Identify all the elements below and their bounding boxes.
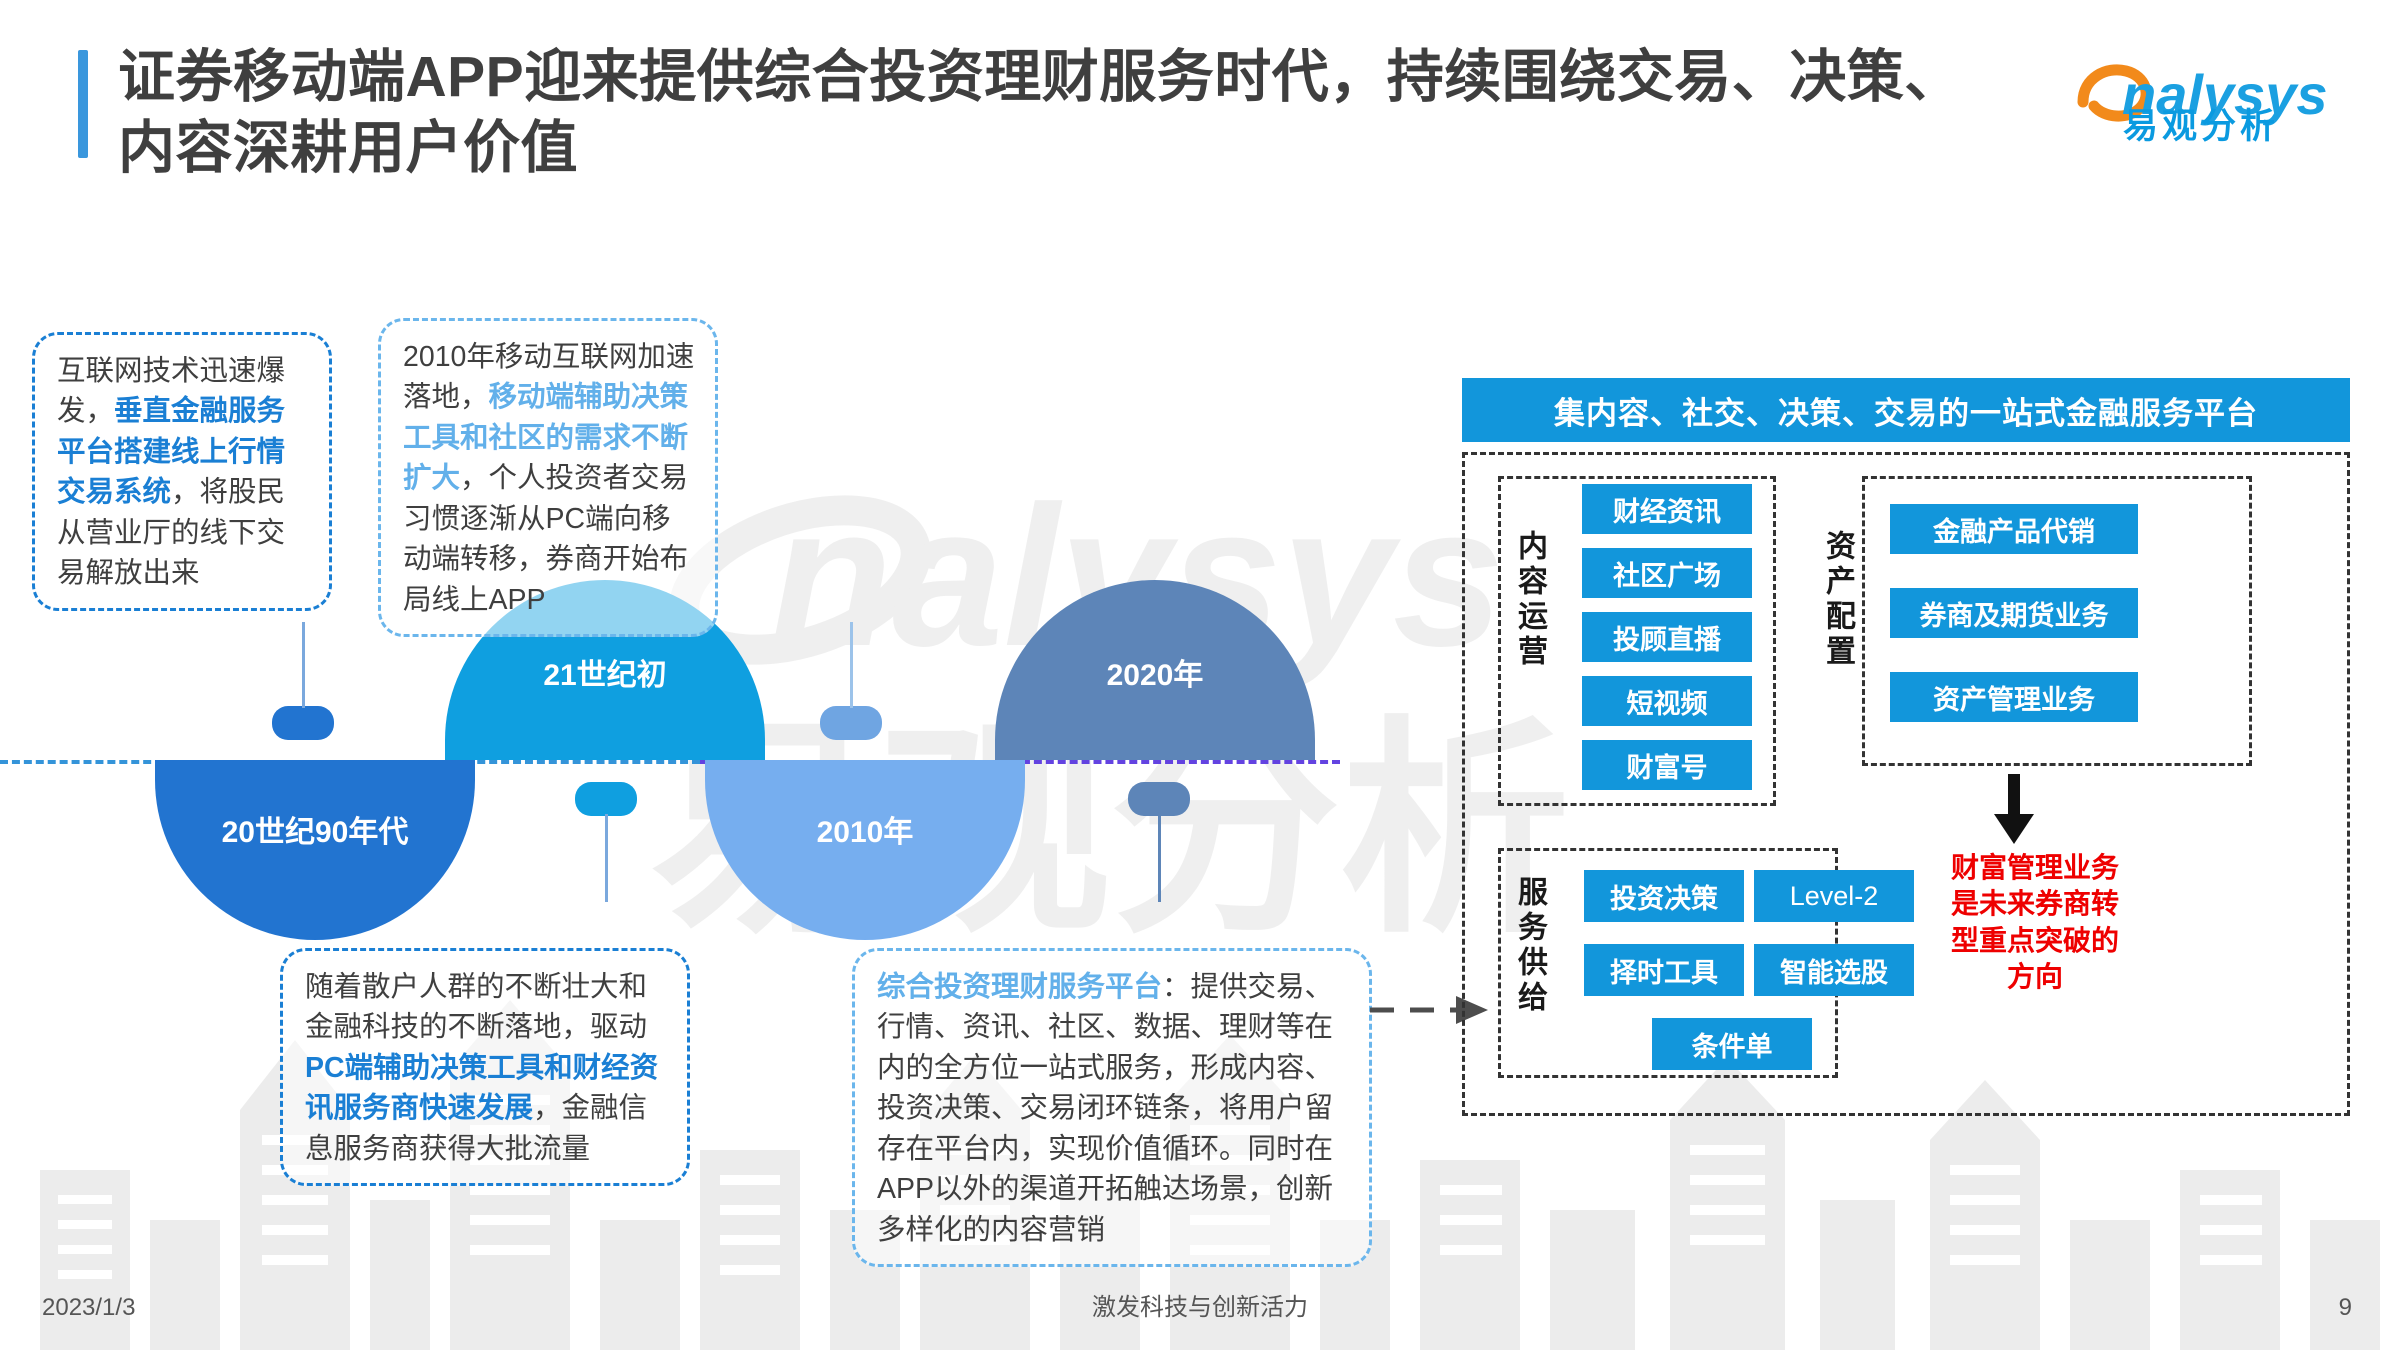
tag-content-4[interactable]: 财富号 [1582, 740, 1752, 790]
tag-content-1[interactable]: 社区广场 [1582, 548, 1752, 598]
tag-asset-1[interactable]: 券商及期货业务 [1890, 588, 2138, 638]
timeline-era-3-label: 2010年 [705, 807, 1025, 851]
footer-slogan: 激发科技与创新活力 [0, 1287, 2400, 1322]
timeline-stem-1 [302, 622, 305, 708]
tag-content-3[interactable]: 短视频 [1582, 676, 1752, 726]
timeline-marker-3 [820, 706, 882, 740]
tag-asset-0[interactable]: 金融产品代销 [1890, 504, 2138, 554]
analysys-logo-cn: 易观分析 [2076, 98, 2326, 149]
timeline-stem-3 [850, 622, 853, 708]
tag-content-2[interactable]: 投顾直播 [1582, 612, 1752, 662]
title-accent-bar [78, 50, 88, 158]
timeline: 20世纪90年代 21世纪初 2010年 2020年 [0, 600, 1340, 930]
callout-box-2010: 2010年移动互联网加速落地，移动端辅助决策工具和社区的需求不断扩大，个人投资者… [378, 318, 718, 637]
timeline-era-2-label: 21世纪初 [445, 650, 765, 694]
tag-asset-2[interactable]: 资产管理业务 [1890, 672, 2138, 722]
callout-box-21st-century: 随着散户人群的不断壮大和金融科技的不断落地，驱动PC端辅助决策工具和财经资讯服务… [280, 948, 690, 1186]
tag-content-0[interactable]: 财经资讯 [1582, 484, 1752, 534]
down-arrow-icon [1990, 774, 2038, 846]
timeline-marker-2 [575, 782, 637, 816]
slide: nalysys 易观分析 证券移动端APP迎来提供综合投资理财服务时代，持续围绕… [0, 0, 2400, 1350]
callout-box-2020: 综合投资理财服务平台：提供交易、行情、资讯、社区、数据、理财等在内的全方位一站式… [852, 948, 1372, 1267]
callout-box-1990s: 互联网技术迅速爆发，垂直金融服务平台搭建线上行情交易系统，将股民从营业厅的线下交… [32, 332, 332, 611]
footer-page-number: 9 [2339, 1294, 2352, 1322]
group-service-supply-label: 服务供给 [1514, 876, 1544, 1016]
group-content-operations-label: 内容运营 [1514, 530, 1544, 670]
timeline-stem-2 [605, 814, 608, 902]
wealth-management-note: 财富管理业务是未来券商转型重点突破的方向 [1950, 850, 2120, 996]
timeline-era-1-label: 20世纪90年代 [155, 807, 475, 851]
callout-segment: 综合投资理财服务平台 [877, 971, 1162, 1003]
panel-header: 集内容、社交、决策、交易的一站式金融服务平台 [1462, 378, 2350, 442]
group-asset-allocation-label: 资产配置 [1822, 530, 1852, 670]
timeline-era-4-label: 2020年 [995, 650, 1315, 694]
timeline-marker-1 [272, 706, 334, 740]
timeline-stem-4 [1158, 814, 1161, 902]
one-stop-platform-panel: 集内容、社交、决策、交易的一站式金融服务平台 内容运营 财经资讯 社区广场 投顾… [1462, 378, 2350, 1118]
tag-service-4[interactable]: 条件单 [1652, 1018, 1812, 1070]
callout-segment: 随着散户人群的不断壮大和金融科技的不断落地，驱动 [305, 971, 647, 1043]
tag-service-1[interactable]: Level-2 [1754, 870, 1914, 922]
tag-service-3[interactable]: 智能选股 [1754, 944, 1914, 996]
callout-segment: ：提供交易、行情、资讯、社区、数据、理财等在内的全方位一站式服务，形成内容、投资… [877, 971, 1333, 1246]
timeline-marker-4 [1128, 782, 1190, 816]
page-title: 证券移动端APP迎来提供综合投资理财服务时代，持续围绕交易、决策、内容深耕用户价… [118, 42, 1998, 183]
tag-service-2[interactable]: 择时工具 [1584, 944, 1744, 996]
tag-service-0[interactable]: 投资决策 [1584, 870, 1744, 922]
